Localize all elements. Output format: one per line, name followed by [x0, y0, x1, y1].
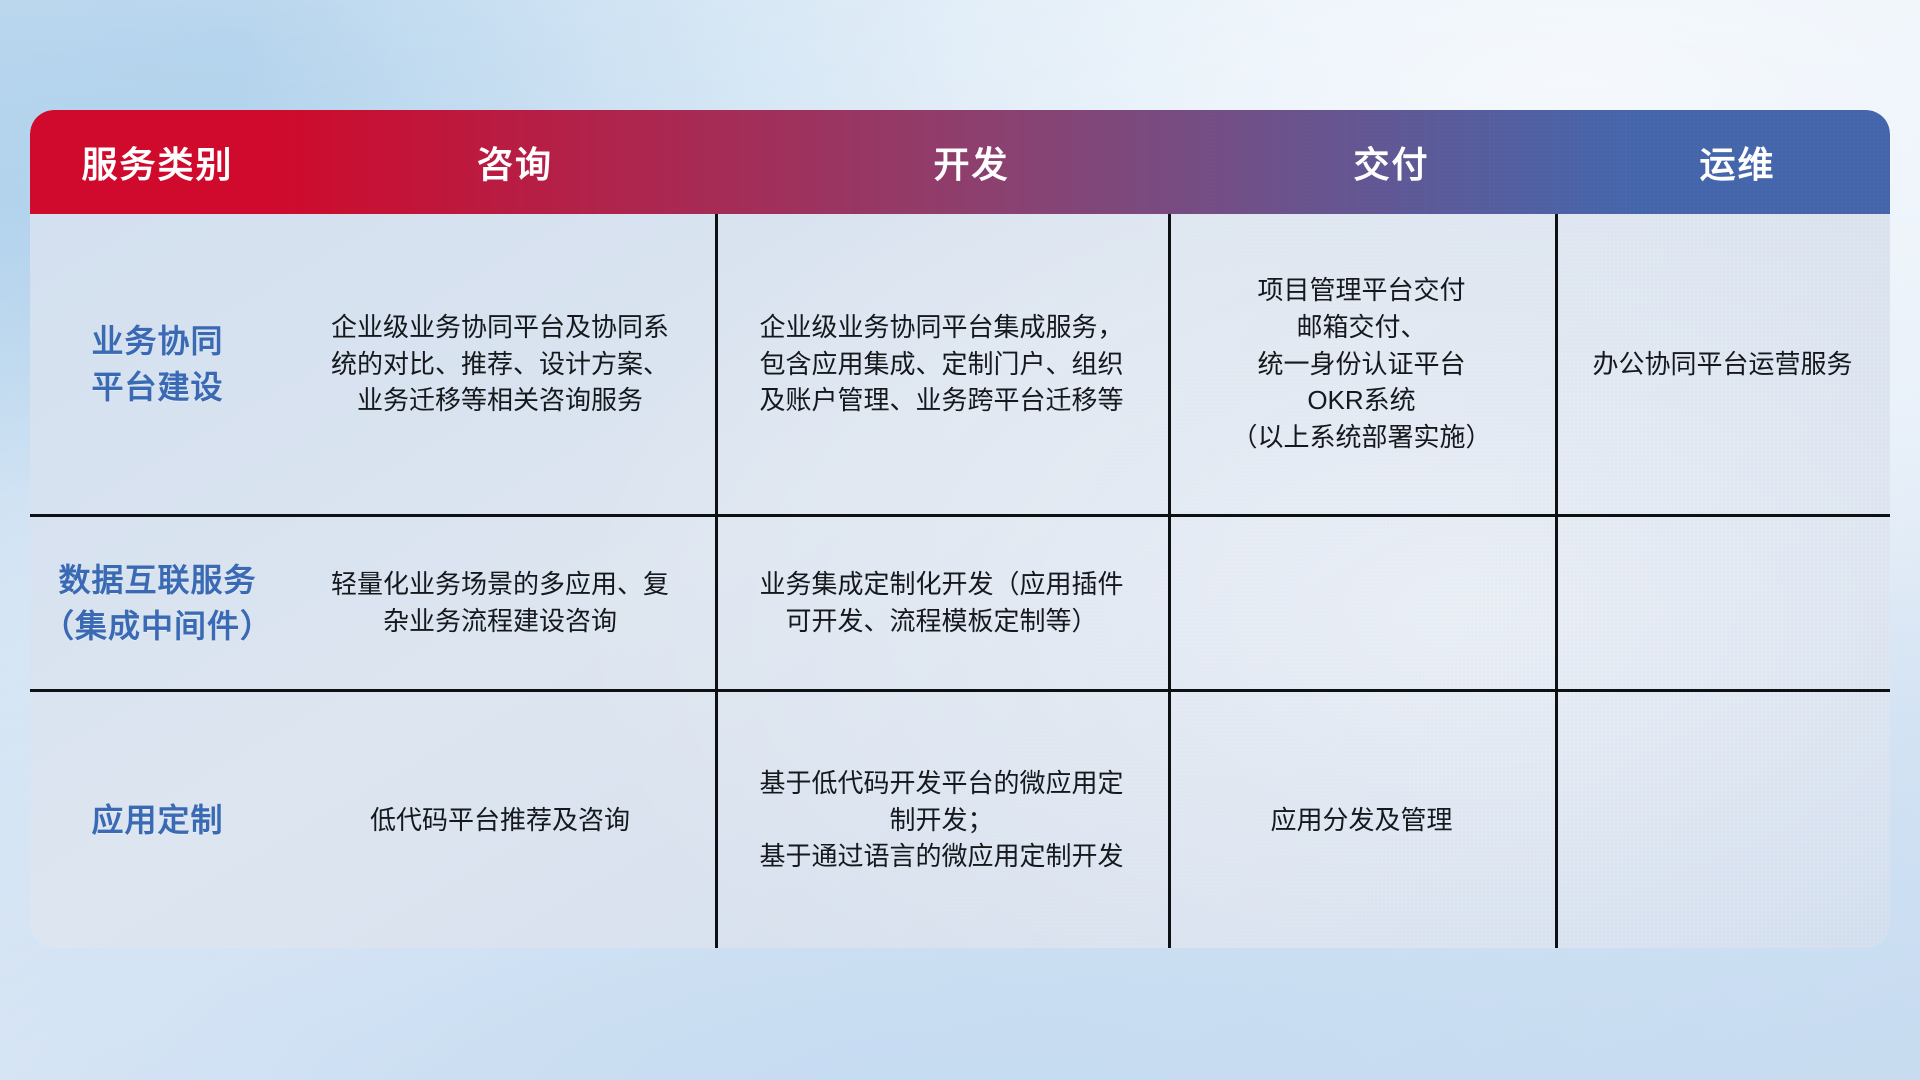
row-label-business-collaboration-platform: 业务协同 平台建设	[30, 318, 285, 411]
cell-row1-development: 企业级业务协同平台集成服务， 包含应用集成、定制门户、组织 及账户管理、业务跨平…	[715, 309, 1168, 420]
header-cell-service-category[interactable]: 服务类别	[30, 136, 285, 188]
table-row: 应用定制 低代码平台推荐及咨询 基于低代码开发平台的微应用定 制开发； 基于通过…	[30, 692, 1890, 948]
header-cell-operations[interactable]: 运维	[1585, 136, 1890, 188]
cell-row3-consulting: 低代码平台推荐及咨询	[285, 802, 715, 839]
cell-row2-development: 业务集成定制化开发（应用插件 可开发、流程模板定制等）	[715, 566, 1168, 640]
cell-row1-consulting: 企业级业务协同平台及协同系 统的对比、推荐、设计方案、 业务迁移等相关咨询服务	[285, 309, 715, 420]
row-label-data-interconnect-service: 数据互联服务 （集成中间件）	[30, 557, 285, 650]
header-cell-consulting[interactable]: 咨询	[285, 136, 745, 188]
service-category-table: 服务类别 咨询 开发 交付 运维 业务协同 平台建设 企业级业务协同平台及协同系…	[30, 110, 1890, 948]
table-body: 业务协同 平台建设 企业级业务协同平台及协同系 统的对比、推荐、设计方案、 业务…	[30, 214, 1890, 948]
cell-row2-consulting: 轻量化业务场景的多应用、复 杂业务流程建设咨询	[285, 566, 715, 640]
cell-row3-delivery: 应用分发及管理	[1168, 802, 1555, 839]
table-row: 业务协同 平台建设 企业级业务协同平台及协同系 统的对比、推荐、设计方案、 业务…	[30, 214, 1890, 514]
row-label-application-customization: 应用定制	[30, 797, 285, 843]
table-row: 数据互联服务 （集成中间件） 轻量化业务场景的多应用、复 杂业务流程建设咨询 业…	[30, 517, 1890, 689]
cell-row1-delivery: 项目管理平台交付 邮箱交付、 统一身份认证平台 OKR系统 （以上系统部署实施）	[1168, 272, 1555, 457]
table-header-row: 服务类别 咨询 开发 交付 运维	[30, 110, 1890, 214]
cell-row3-development: 基于低代码开发平台的微应用定 制开发； 基于通过语言的微应用定制开发	[715, 765, 1168, 876]
cell-row1-operations: 办公协同平台运营服务	[1555, 346, 1890, 383]
header-cell-development[interactable]: 开发	[745, 136, 1198, 188]
header-cell-delivery[interactable]: 交付	[1198, 136, 1585, 188]
